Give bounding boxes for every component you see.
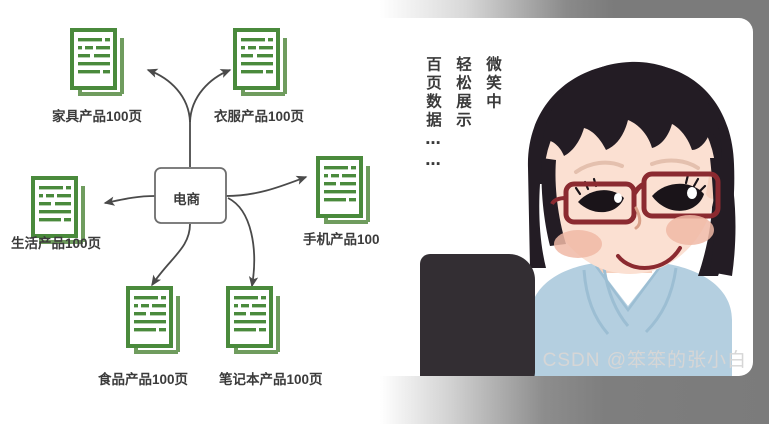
screenshot-root: 电商 家具产品100页 衣服产品100页 生活产品100页 手机产品100页 食… bbox=[0, 0, 769, 424]
panel-top-gradient bbox=[380, 0, 769, 18]
center-node-label: 电商 bbox=[173, 188, 200, 208]
mindmap-diagram: 电商 家具产品100页 衣服产品100页 生活产品100页 手机产品100页 食… bbox=[0, 0, 400, 424]
doc-icon-notebook[interactable] bbox=[228, 288, 278, 352]
doc-icon-furniture[interactable] bbox=[72, 30, 122, 94]
panel-bottom-gradient bbox=[380, 376, 769, 424]
arrow-to-food bbox=[152, 224, 190, 285]
node-label-clothes: 衣服产品100页 bbox=[214, 105, 304, 125]
vertical-caption: 微笑中 轻松展示 百页数据…… bbox=[422, 56, 504, 172]
doc-icon-food[interactable] bbox=[128, 288, 178, 352]
node-label-life: 生活产品100页 bbox=[11, 232, 101, 252]
arrow-to-phone bbox=[226, 177, 306, 196]
watermark-text: CSDN @笨笨的张小白 bbox=[543, 345, 747, 372]
illustration-card: 微笑中 轻松展示 百页数据…… bbox=[380, 18, 753, 376]
cheek-left bbox=[554, 230, 602, 258]
caption-column-3: 百页数据…… bbox=[422, 56, 444, 172]
arrow-to-life bbox=[105, 196, 155, 203]
arrow-to-notebook bbox=[228, 198, 254, 286]
node-label-furniture: 家具产品100页 bbox=[52, 105, 142, 125]
caption-column-2: 轻松展示 bbox=[452, 56, 474, 172]
mindmap-svg bbox=[0, 0, 400, 424]
arrow-to-furniture bbox=[148, 70, 190, 122]
illustration-panel: 微笑中 轻松展示 百页数据…… bbox=[380, 0, 769, 424]
node-label-notebook: 笔记本产品100页 bbox=[219, 368, 323, 388]
doc-icon-clothes[interactable] bbox=[235, 30, 285, 94]
doc-icon-phone[interactable] bbox=[318, 158, 368, 222]
caption-column-1: 微笑中 bbox=[482, 56, 504, 172]
laptop-screen bbox=[420, 254, 535, 376]
node-label-food: 食品产品100页 bbox=[98, 368, 188, 388]
cheek-right bbox=[666, 215, 714, 245]
